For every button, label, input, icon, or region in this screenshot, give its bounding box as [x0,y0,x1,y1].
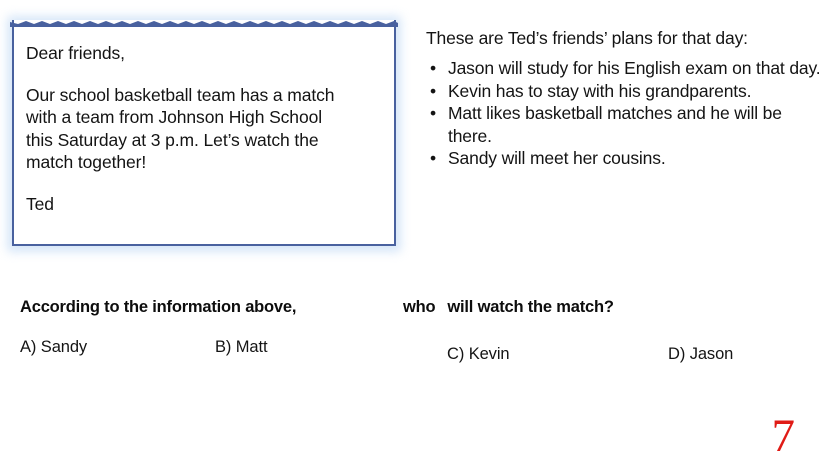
note-greeting: Dear friends, [26,42,382,65]
note-body-line-2: with a team from Johnson High School [26,106,382,129]
question-row: According to the information above, whow… [0,298,828,324]
bullet-icon: • [430,147,436,170]
bullet-icon: • [430,102,436,125]
page-number: 7 [772,413,796,460]
list-item: • Kevin has to stay with his grandparent… [426,80,822,103]
note-signature: Ted [26,193,382,216]
question-text-tail: will watch the match? [447,298,613,316]
list-item-label: Matt likes basketball matches and he wil… [448,103,782,146]
question-text-part-2: whowill watch the match? [403,298,614,317]
note-card-content: Dear friends, Our school basketball team… [12,20,396,246]
list-item-label: Jason will study for his English exam on… [448,58,821,78]
plans-panel: These are Ted’s friends’ plans for that … [426,27,822,170]
answer-option-a[interactable]: A) Sandy [20,338,87,357]
question-text-part-1: According to the information above, [20,298,296,317]
question-keyword-who: who [403,298,435,316]
list-item: • Sandy will meet her cousins. [426,147,822,170]
note-body-line-1: Our school basketball team has a match [26,84,382,107]
bullet-icon: • [430,57,436,80]
list-item-label: Sandy will meet her cousins. [448,148,666,168]
list-item: • Matt likes basketball matches and he w… [426,102,822,147]
note-spacer-2 [26,174,382,193]
note-body-line-4: match together! [26,151,382,174]
list-item: • Jason will study for his English exam … [426,57,822,80]
answer-option-d[interactable]: D) Jason [668,345,733,364]
plans-heading: These are Ted’s friends’ plans for that … [426,27,822,49]
note-body-line-3: this Saturday at 3 p.m. Let’s watch the [26,129,382,152]
list-item-label: Kevin has to stay with his grandparents. [448,81,751,101]
answer-option-c[interactable]: C) Kevin [447,345,509,364]
note-card: Dear friends, Our school basketball team… [12,14,396,246]
plans-list: • Jason will study for his English exam … [426,57,822,170]
bullet-icon: • [430,80,436,103]
note-spacer-1 [26,65,382,84]
answer-option-b[interactable]: B) Matt [215,338,267,357]
